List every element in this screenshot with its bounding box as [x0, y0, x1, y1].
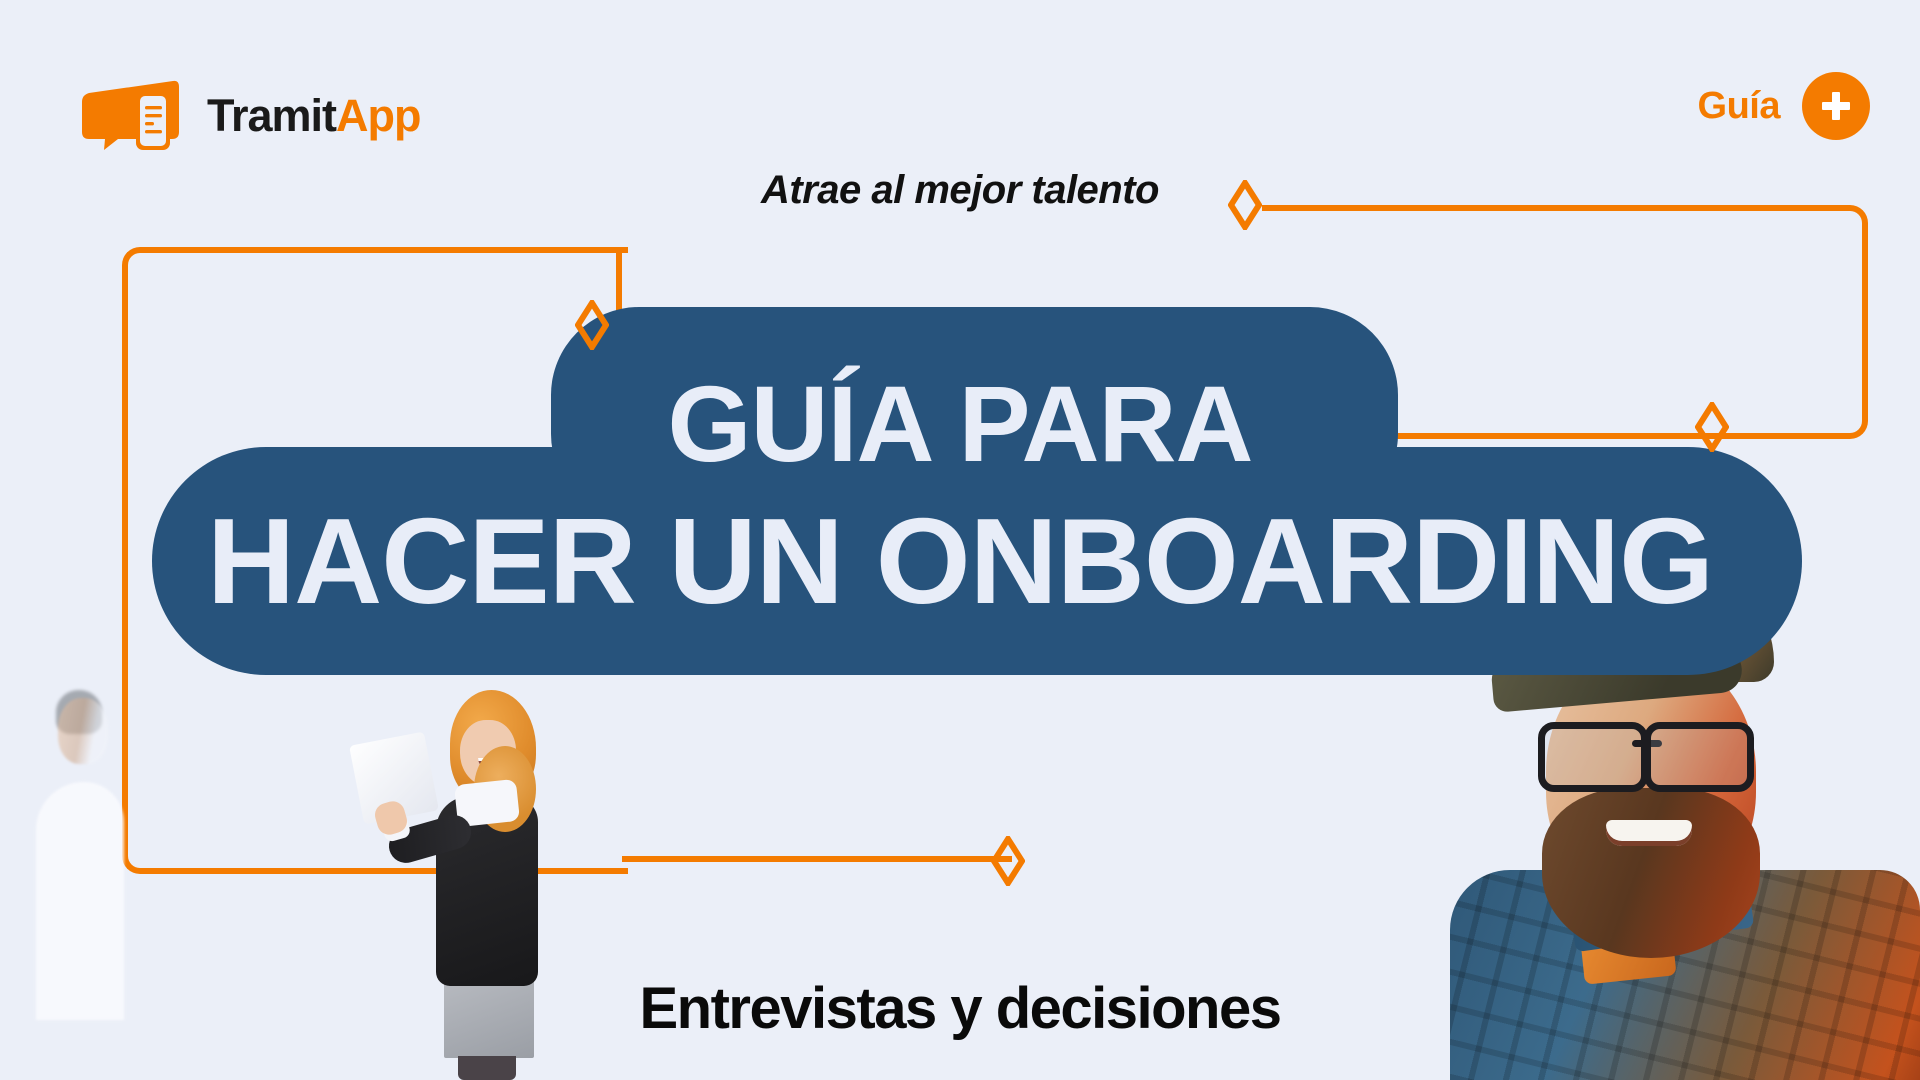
hero-eyebrow: Atrae al mejor talento	[0, 168, 1920, 213]
person-man-glasses-icon	[1532, 722, 1760, 778]
person-woman-legs	[458, 1056, 516, 1080]
brand-name-part1: Tramit	[207, 90, 336, 141]
person-left-head	[58, 698, 108, 764]
diamond-marker-mid-right	[1695, 402, 1729, 452]
speech-bubble-document-icon	[78, 80, 193, 150]
person-man-beard	[1542, 788, 1760, 958]
hero-stage: GUÍA PARA HACER UN ONBOARDING	[0, 0, 1920, 1080]
page-title-line-2: HACER UN ONBOARDING	[0, 500, 1920, 622]
page-title-line-1: GUÍA PARA	[0, 370, 1920, 478]
person-man-smile	[1606, 820, 1692, 846]
hero-footer-text: Entrevistas y decisiones	[0, 975, 1920, 1042]
brand-logo[interactable]: TramitApp	[78, 80, 421, 150]
brand-logo-text: TramitApp	[207, 93, 421, 138]
guide-button[interactable]: Guía	[1698, 72, 1870, 140]
diamond-marker-title	[575, 300, 609, 350]
diamond-marker-bottom-left	[991, 836, 1025, 886]
decor-frame-left-bottom-stub	[622, 856, 1012, 862]
person-man-lens-left	[1538, 722, 1648, 792]
guide-button-label: Guía	[1698, 85, 1780, 128]
person-man-lens-right	[1644, 722, 1754, 792]
brand-name-part2: App	[336, 90, 420, 141]
person-left-partial-photo	[28, 690, 120, 1020]
plus-icon[interactable]	[1802, 72, 1870, 140]
